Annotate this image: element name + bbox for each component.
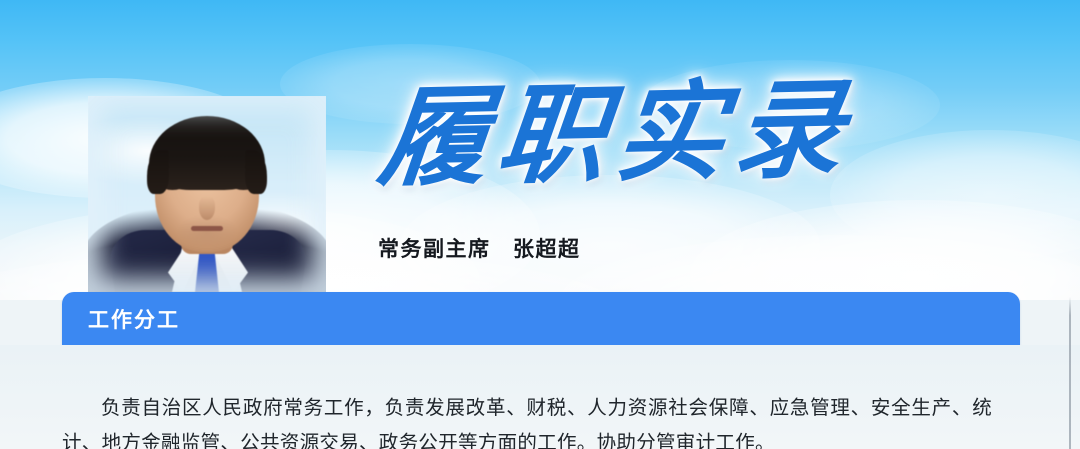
cloud-decoration bbox=[690, 200, 1080, 300]
nose bbox=[199, 196, 215, 220]
portrait-illustration bbox=[88, 96, 326, 292]
page-root: 履职实录 常务副主席 张超超 工作分工 负责自治区人民政府常务工作，负责发展改革… bbox=[0, 0, 1080, 449]
section-heading-label: 工作分工 bbox=[88, 304, 180, 334]
section-heading-bar: 工作分工 bbox=[62, 292, 1020, 345]
page-title-calligraphy: 履职实录 bbox=[374, 67, 908, 200]
official-portrait-photo bbox=[88, 96, 326, 292]
official-name-subtitle: 常务副主席 张超超 bbox=[378, 236, 581, 264]
mouth bbox=[191, 226, 223, 231]
cloud-decoration bbox=[560, 235, 1080, 300]
work-division-paragraph: 负责自治区人民政府常务工作，负责发展改革、财税、人力资源社会保障、应急管理、安全… bbox=[62, 391, 992, 449]
page-frame-right-border bbox=[1069, 297, 1071, 449]
body-content-area: 负责自治区人民政府常务工作，负责发展改革、财税、人力资源社会保障、应急管理、安全… bbox=[0, 345, 1080, 449]
